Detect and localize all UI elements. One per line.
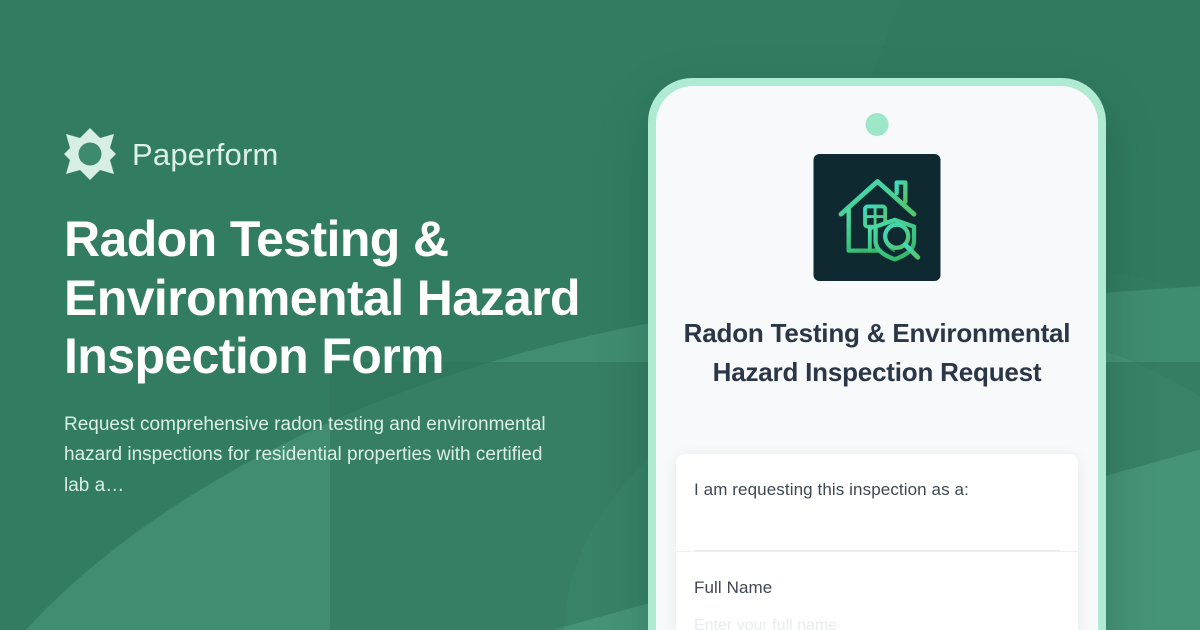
field-full-name[interactable]: Full Name Enter your full name bbox=[676, 552, 1078, 630]
field-label: Full Name bbox=[694, 578, 1060, 598]
page-title: Radon Testing & Environmental Hazard Ins… bbox=[64, 210, 624, 386]
page-description: Request comprehensive radon testing and … bbox=[64, 410, 564, 502]
field-inspection-role[interactable]: I am requesting this inspection as a: bbox=[676, 454, 1078, 551]
paperform-logo-icon bbox=[64, 128, 116, 180]
brand-lockup: Paperform bbox=[64, 128, 664, 180]
form-card: I am requesting this inspection as a: Fu… bbox=[676, 454, 1078, 630]
form-title: Radon Testing & Environmental Hazard Ins… bbox=[656, 314, 1098, 392]
full-name-input[interactable]: Enter your full name bbox=[694, 617, 1060, 630]
house-shield-magnifier-icon bbox=[814, 154, 941, 281]
phone-mockup: Radon Testing & Environmental Hazard Ins… bbox=[648, 78, 1106, 630]
field-label: I am requesting this inspection as a: bbox=[694, 480, 1060, 500]
hero-content: Paperform Radon Testing & Environmental … bbox=[64, 0, 664, 630]
field-underline bbox=[694, 550, 1060, 551]
phone-screen: Radon Testing & Environmental Hazard Ins… bbox=[656, 86, 1098, 630]
camera-dot-icon bbox=[866, 113, 889, 136]
brand-name: Paperform bbox=[132, 139, 279, 170]
